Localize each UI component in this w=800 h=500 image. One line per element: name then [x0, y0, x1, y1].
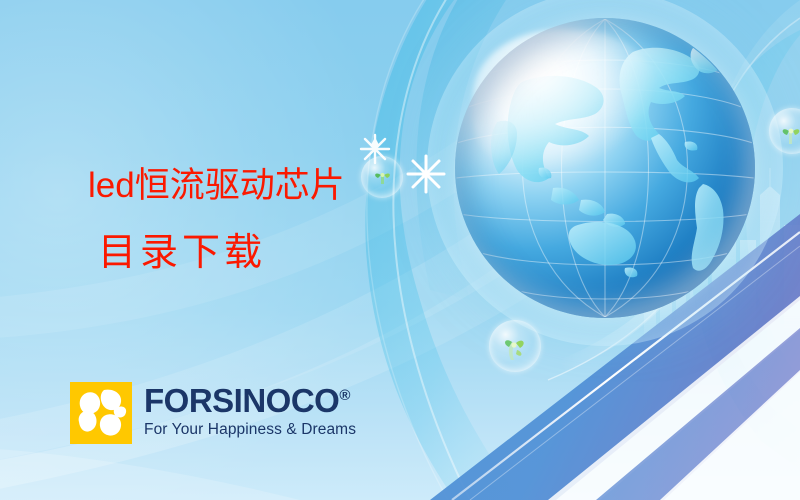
globe-rim-shading — [455, 18, 755, 318]
bubble-with-pinwheel — [489, 320, 541, 372]
globe-illustration — [455, 18, 755, 318]
banner-image: led恒流驱动芯片 目录下载 FORSINOCO® For Your Happi… — [0, 0, 800, 500]
logo-tagline: For Your Happiness & Dreams — [144, 422, 356, 438]
registered-trademark-symbol: ® — [339, 387, 350, 404]
logo-wordmark: FORSINOCO® — [144, 384, 356, 417]
logo-text-block: FORSINOCO® For Your Happiness & Dreams — [144, 382, 356, 438]
headline-line-1: led恒流驱动芯片 — [88, 168, 345, 203]
company-logo: FORSINOCO® For Your Happiness & Dreams — [70, 382, 356, 444]
four-petal-flower-icon — [70, 382, 132, 444]
logo-wordmark-text: FORSINOCO — [144, 382, 339, 419]
logo-flower-mark — [70, 382, 132, 444]
bubble-with-pinwheel — [361, 156, 403, 198]
bubble-with-pinwheel — [769, 108, 800, 154]
headline-line-2: 目录下载 — [98, 234, 266, 272]
